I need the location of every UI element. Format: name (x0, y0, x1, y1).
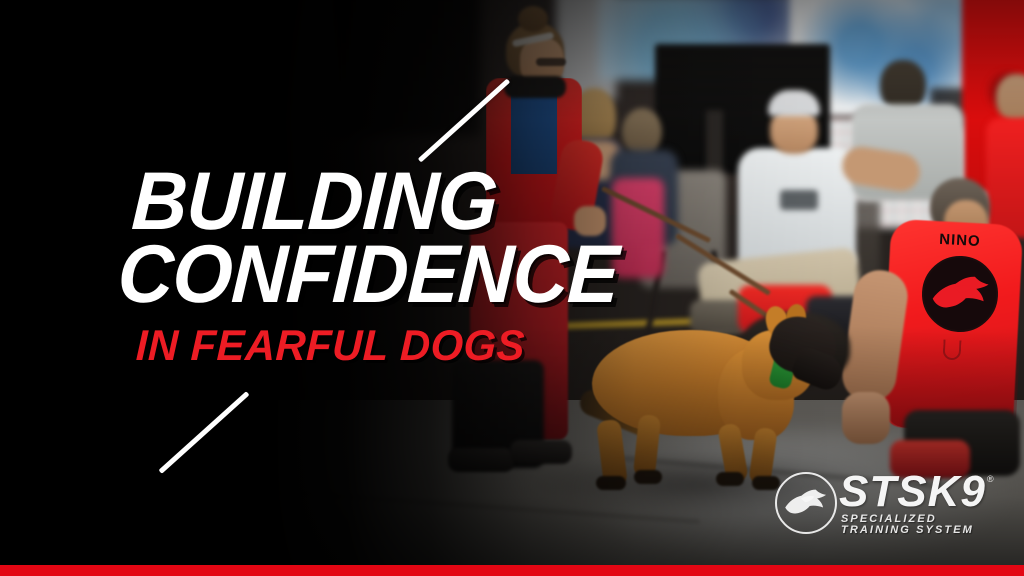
headline-line-1: BUILDING (130, 168, 647, 235)
headline-subtitle: IN FEARFUL DOGS (135, 322, 662, 371)
logo-tagline: SPECIALIZED TRAINING SYSTEM (841, 514, 1005, 536)
headline-block: BUILDING CONFIDENCE IN FEARFUL DOGS (118, 168, 678, 371)
headline-line-2: CONFIDENCE (116, 241, 646, 308)
stsk9-logo: STSK9 ® SPECIALIZED TRAINING SYSTEM (775, 470, 1005, 534)
logo-wordmark: STSK9 (839, 470, 986, 514)
video-thumbnail-canvas: NINO (0, 0, 1024, 576)
dog-head-emblem-icon (775, 472, 837, 534)
bottom-red-accent-bar (0, 565, 1024, 576)
logo-trademark-symbol: ® (987, 474, 994, 484)
